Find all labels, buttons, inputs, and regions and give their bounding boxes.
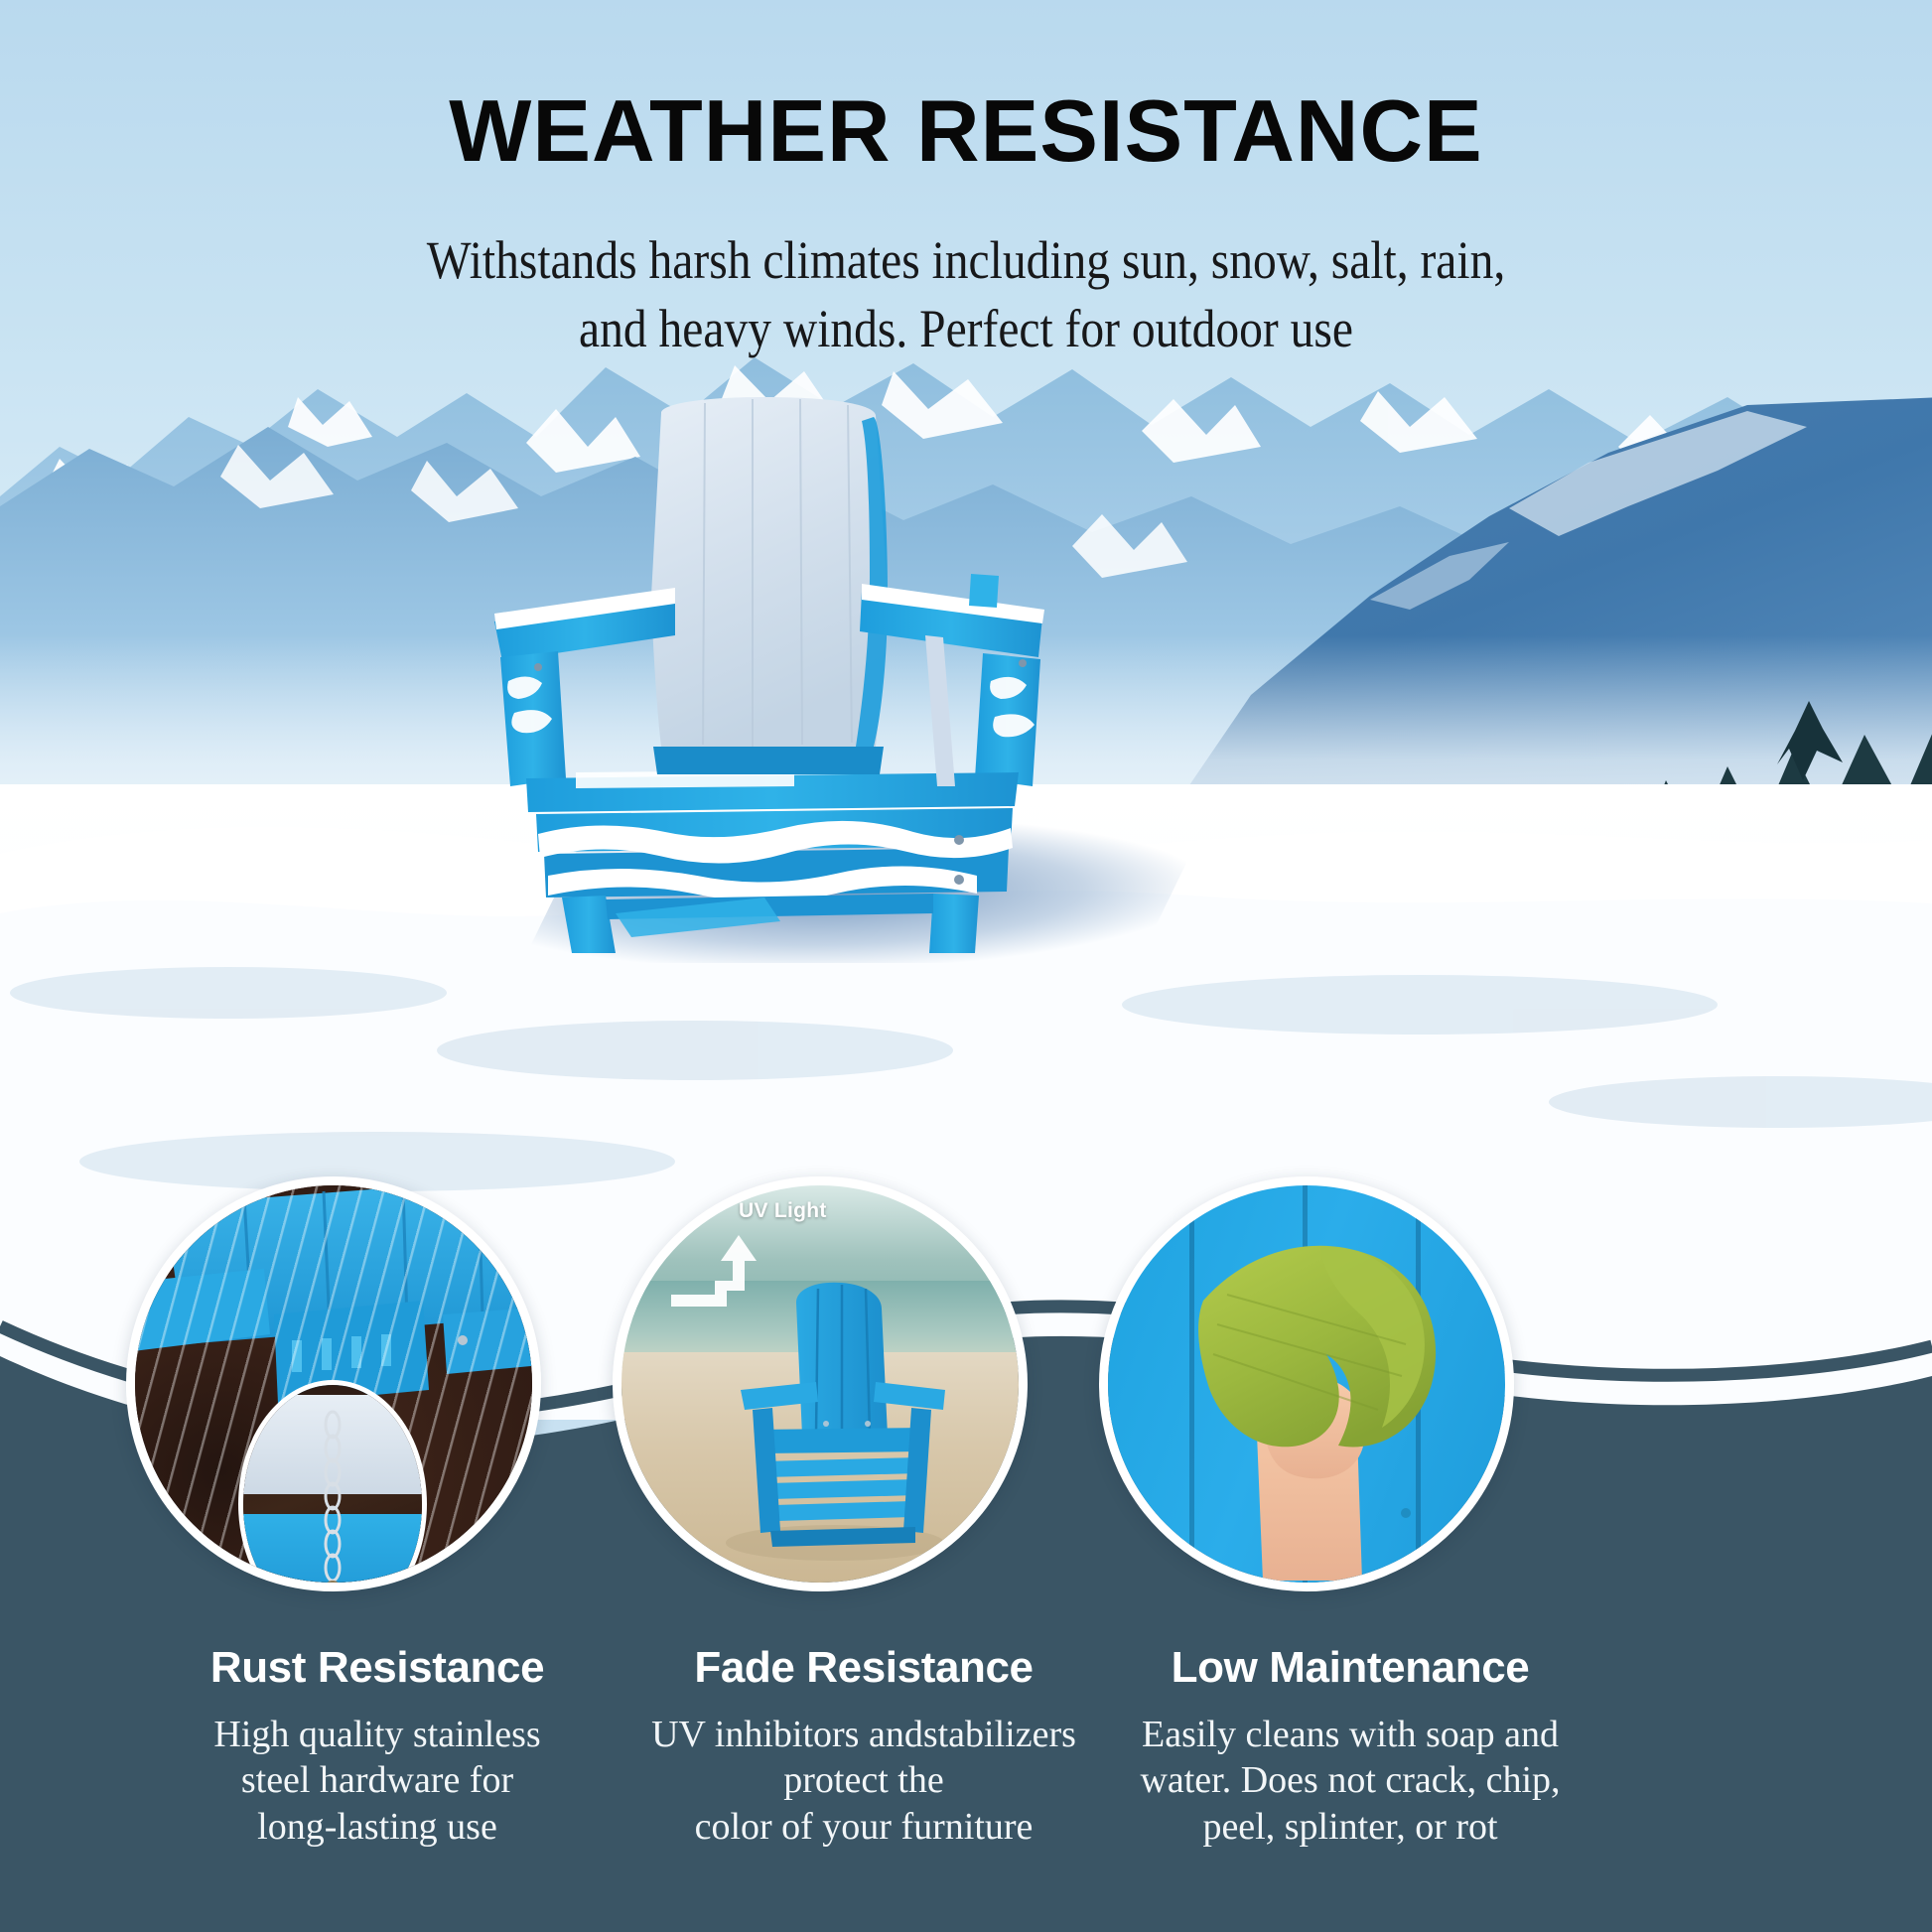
hand-with-cloth-illustration	[1108, 1185, 1505, 1583]
fade-body-line-1: UV inhibitors andstabilizers	[606, 1712, 1122, 1757]
maint-body-line-2: water. Does not crack, chip,	[1092, 1757, 1608, 1803]
page-subtitle: Withstands harsh climates including sun,…	[0, 226, 1932, 363]
rust-body-line-1: High quality stainless	[119, 1712, 635, 1757]
feature-image-rust-resistance[interactable]	[126, 1176, 541, 1591]
feature-heading-maintenance: Low Maintenance	[1092, 1646, 1608, 1690]
feature-image-fade-resistance[interactable]: UV Light	[613, 1176, 1028, 1591]
subtitle-line-1: Withstands harsh climates including sun,…	[116, 226, 1816, 295]
rust-body-line-2: steel hardware for	[119, 1757, 635, 1803]
weather-resistance-infographic: WEATHER RESISTANCE Withstands harsh clim…	[0, 0, 1932, 1932]
uv-light-label: UV Light	[739, 1199, 827, 1223]
feature-heading-fade: Fade Resistance	[606, 1646, 1122, 1690]
rust-body-line-3: long-lasting use	[119, 1804, 635, 1850]
feature-heading-rust: Rust Resistance	[119, 1646, 635, 1690]
maint-body-line-3: peel, splinter, or rot	[1092, 1804, 1608, 1850]
fade-body-line-3: color of your furniture	[606, 1804, 1122, 1850]
feature-caption-fade-resistance: Fade Resistance UV inhibitors andstabili…	[606, 1646, 1122, 1850]
chain-closeup-inset	[238, 1380, 427, 1591]
uv-light-arrow-icon	[671, 1229, 790, 1318]
feature-body-rust: High quality stainless steel hardware fo…	[119, 1712, 635, 1850]
feature-caption-low-maintenance: Low Maintenance Easily cleans with soap …	[1092, 1646, 1608, 1850]
feature-body-maintenance: Easily cleans with soap and water. Does …	[1092, 1712, 1608, 1850]
feature-body-fade: UV inhibitors andstabilizers protect the…	[606, 1712, 1122, 1850]
feature-caption-rust-resistance: Rust Resistance High quality stainless s…	[119, 1646, 635, 1850]
hero-chair-image	[467, 397, 1082, 953]
maint-body-line-1: Easily cleans with soap and	[1092, 1712, 1608, 1757]
feature-image-low-maintenance[interactable]	[1099, 1176, 1514, 1591]
fade-body-line-2: protect the	[606, 1757, 1122, 1803]
subtitle-line-2: and heavy winds. Perfect for outdoor use	[116, 295, 1816, 363]
page-title: WEATHER RESISTANCE	[0, 87, 1932, 175]
